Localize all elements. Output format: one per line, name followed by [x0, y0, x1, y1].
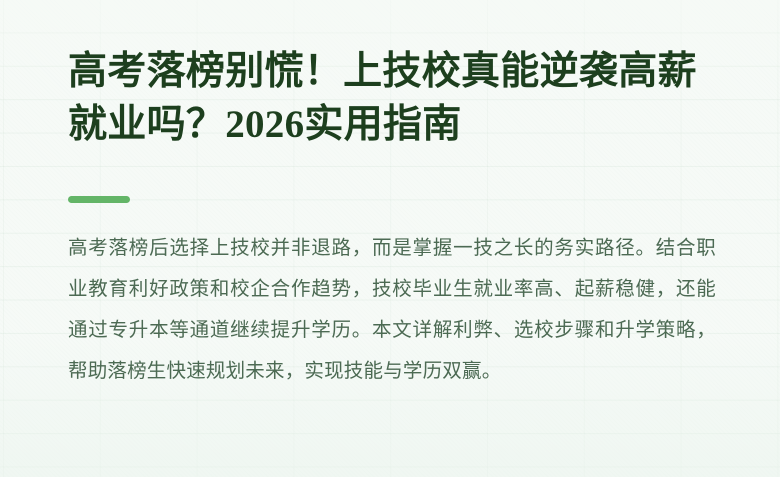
article-content: 高考落榜别慌！上技校真能逆袭高薪就业吗？2026实用指南 高考落榜后选择上技校并… [68, 0, 716, 477]
accent-divider-bar [68, 196, 130, 203]
article-summary: 高考落榜后选择上技校并非退路，而是掌握一技之长的务实路径。结合职业教育利好政策和… [68, 228, 716, 392]
article-headline: 高考落榜别慌！上技校真能逆袭高薪就业吗？2026实用指南 [68, 45, 708, 151]
article-card: 高考落榜别慌！上技校真能逆袭高薪就业吗？2026实用指南 高考落榜后选择上技校并… [0, 0, 780, 477]
